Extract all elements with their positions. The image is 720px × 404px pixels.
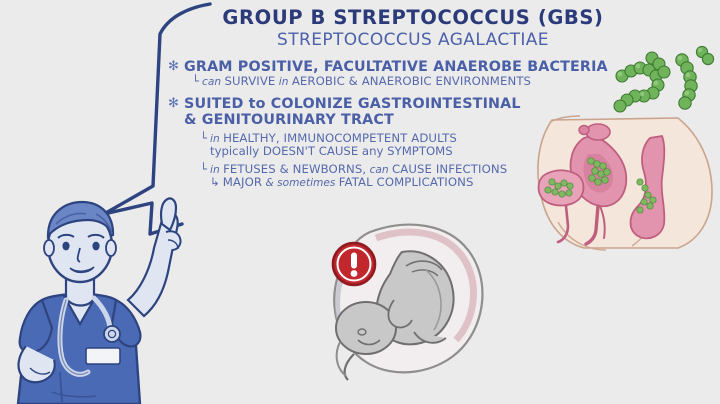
- bullet-list: ✻ GRAM POSITIVE, FACULTATIVE ANAEROBE BA…: [168, 59, 644, 189]
- sub-cont-emph: MAJOR: [223, 175, 262, 189]
- sub-emph: SURVIVE: [224, 74, 275, 88]
- sub-bullet-label: in FETUSES & NEWBORNS, can CAUSE INFECTI…: [210, 163, 644, 176]
- sub-mid: in: [275, 76, 291, 88]
- sub-lead: can: [202, 76, 224, 88]
- male-nurse-character-illustration: [0, 196, 196, 404]
- sub-lead: in: [210, 164, 223, 176]
- page-subtitle: STREPTOCOCCUS AGALACTIAE: [168, 31, 644, 51]
- sub-cont-mid: & sometimes: [262, 177, 339, 189]
- elbow-connector-icon: └: [200, 132, 207, 145]
- warning-exclamation-badge: [330, 240, 378, 288]
- sub-bullet-label-continued: typically DOESN'T CAUSE any SYMPTOMS: [168, 145, 644, 158]
- list-item: ✻ SUITED to COLONIZE GASTROINTESTINAL: [168, 96, 644, 112]
- list-item: ✻ GRAM POSITIVE, FACULTATIVE ANAEROBE BA…: [168, 59, 644, 75]
- sub-cont-mid: any: [358, 144, 387, 158]
- bubble-text-block: GROUP B STREPTOCOCCUS (GBS) STREPTOCOCCU…: [168, 8, 644, 189]
- sub-tail: CAUSE INFECTIONS: [392, 162, 507, 176]
- sub-cont-emph: DOESN'T CAUSE: [263, 144, 358, 158]
- arrow-connector-icon: ↳: [210, 176, 220, 189]
- sub-list-item: └ can SURVIVE in AEROBIC & ANAEROBIC ENV…: [168, 75, 644, 88]
- sub-list-item: └ in FETUSES & NEWBORNS, can CAUSE INFEC…: [168, 163, 644, 176]
- page-title: GROUP B STREPTOCOCCUS (GBS): [168, 8, 644, 29]
- sub-bullet-label-continued: MAJOR & sometimes FATAL COMPLICATIONS: [223, 176, 644, 189]
- elbow-connector-icon: └: [192, 75, 199, 88]
- sub-emph: FETUSES & NEWBORNS,: [223, 162, 366, 176]
- sub-mid: can: [366, 164, 392, 176]
- asterisk-icon: ✻: [168, 59, 179, 75]
- sub-list-item: └ in HEALTHY, IMMUNOCOMPETENT ADULTS: [168, 132, 644, 145]
- bullet-label: SUITED to COLONIZE GASTROINTESTINAL: [184, 96, 644, 112]
- sub-emph: HEALTHY, IMMUNOCOMPETENT ADULTS: [223, 131, 457, 145]
- sub-lead: in: [210, 133, 223, 145]
- fetus-in-uterus-illustration: [296, 214, 508, 384]
- slide-canvas: GROUP B STREPTOCOCCUS (GBS) STREPTOCOCCU…: [0, 0, 720, 404]
- asterisk-icon: ✻: [168, 96, 179, 112]
- bullet-label-continued: & GENITOURINARY TRACT: [168, 112, 644, 128]
- sub-tail: AEROBIC & ANAEROBIC ENVIRONMENTS: [292, 74, 531, 88]
- sub-bullet-label: can SURVIVE in AEROBIC & ANAEROBIC ENVIR…: [202, 75, 644, 88]
- elbow-connector-icon: └: [200, 163, 207, 176]
- sub-list-item: ↳ MAJOR & sometimes FATAL COMPLICATIONS: [168, 176, 644, 189]
- bullet-label: GRAM POSITIVE, FACULTATIVE ANAEROBE BACT…: [184, 59, 644, 75]
- sub-cont-lead: typically: [210, 144, 263, 158]
- sub-cont-tail: SYMPTOMS: [387, 144, 453, 158]
- sub-cont-tail: FATAL COMPLICATIONS: [339, 175, 474, 189]
- sub-bullet-label: in HEALTHY, IMMUNOCOMPETENT ADULTS: [210, 132, 644, 145]
